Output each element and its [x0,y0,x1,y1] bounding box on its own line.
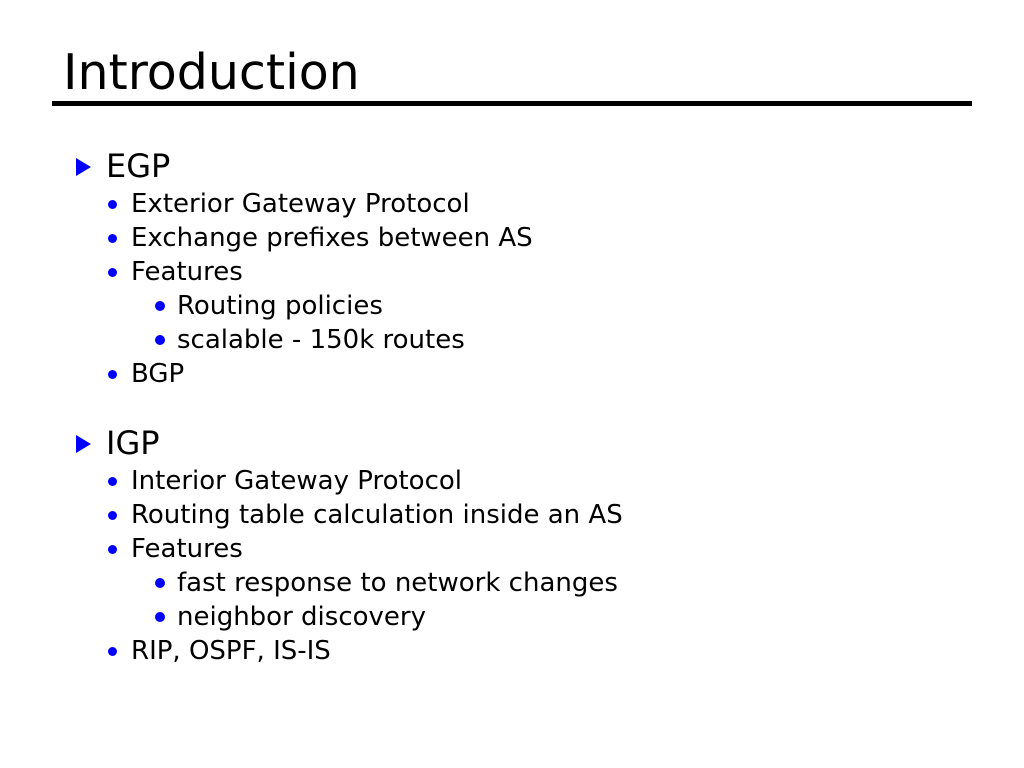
dot-marker [108,187,131,221]
list-item-label: neighbor discovery [177,600,426,634]
list-item-label: Routing table calculation inside an AS [131,498,623,532]
dot-marker [108,357,131,391]
bullet-glyph [108,200,117,209]
dot-marker [108,532,131,566]
triangle-right-marker [76,423,106,464]
dot-marker [155,600,177,634]
list-item: Exchange prefixes between AS [0,221,1024,255]
list-item: Exterior Gateway Protocol [0,187,1024,221]
list-item-label: Routing policies [177,289,383,323]
list-item: scalable - 150k routes [0,323,1024,357]
list-item-label: RIP, OSPF, IS-IS [131,634,331,668]
list-item: Features [0,255,1024,289]
bullet-glyph [76,435,91,453]
bullet-glyph [108,545,117,554]
list-item: Routing policies [0,289,1024,323]
title-underline-rule [52,101,972,106]
list-item: EGP [0,146,1024,187]
list-item-label: Interior Gateway Protocol [131,464,462,498]
list-item: Interior Gateway Protocol [0,464,1024,498]
bullet-glyph [108,511,117,520]
list-item: fast response to network changes [0,566,1024,600]
triangle-right-marker [76,146,106,187]
list-item: BGP [0,357,1024,391]
list-item: Routing table calculation inside an AS [0,498,1024,532]
page-title: Introduction [52,44,972,102]
list-item-label: EGP [106,146,170,187]
bullet-glyph [108,234,117,243]
dot-marker [108,464,131,498]
bullet-glyph [108,370,117,379]
bullet-glyph [155,301,165,311]
dot-marker [108,255,131,289]
dot-marker [108,221,131,255]
list-item-label: scalable - 150k routes [177,323,465,357]
bullet-glyph [108,477,117,486]
bullet-spacer [0,391,1024,423]
dot-marker [155,566,177,600]
dot-marker [108,634,131,668]
list-item-label: Features [131,255,243,289]
dot-marker [108,498,131,532]
bullet-glyph [155,578,165,588]
bullet-glyph [155,612,165,622]
dot-marker [155,323,177,357]
slide: Introduction EGPExterior Gateway Protoco… [0,0,1024,768]
dot-marker [155,289,177,323]
list-item-label: BGP [131,357,184,391]
list-item-label: Exterior Gateway Protocol [131,187,470,221]
list-item: IGP [0,423,1024,464]
list-item: RIP, OSPF, IS-IS [0,634,1024,668]
bullet-list: EGPExterior Gateway ProtocolExchange pre… [0,146,1024,668]
list-item: Features [0,532,1024,566]
list-item-label: Features [131,532,243,566]
list-item-label: Exchange prefixes between AS [131,221,533,255]
list-item-label: IGP [106,423,160,464]
bullet-glyph [108,268,117,277]
list-item-label: fast response to network changes [177,566,618,600]
list-item: neighbor discovery [0,600,1024,634]
bullet-glyph [155,335,165,345]
title-block: Introduction [52,44,972,102]
bullet-glyph [76,158,91,176]
bullet-glyph [108,647,117,656]
